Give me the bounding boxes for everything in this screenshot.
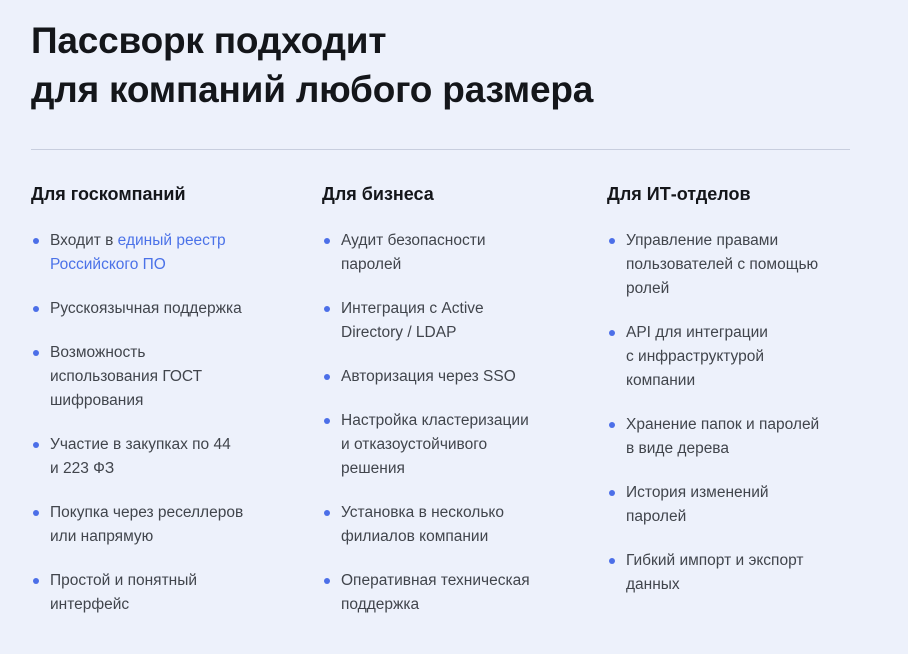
list-item: Аудит безопасности паролей <box>322 229 581 277</box>
column-title-business: Для бизнеса <box>322 182 581 206</box>
list-item-text: Установка в несколько филиалов компании <box>341 504 504 545</box>
feature-columns: Для госкомпаний Входит в единый реестр Р… <box>31 182 877 617</box>
bullet-icon <box>609 490 615 496</box>
list-item-text: Авторизация через SSO <box>341 368 516 385</box>
page-root: Пассворк подходит для компаний любого ра… <box>0 0 908 654</box>
bullet-icon <box>33 442 39 448</box>
list-item: Хранение папок и паролей в виде дерева <box>607 413 877 461</box>
list-item-text: Русскоязычная поддержка <box>50 300 242 317</box>
bullet-icon <box>609 238 615 244</box>
list-item-text: Участие в закупках по 44 и 223 ФЗ <box>50 436 231 477</box>
list-item-text: Входит в единый реестр Российского ПО <box>50 232 226 273</box>
list-item-text: Настройка кластеризации и отказоустойчив… <box>341 412 529 477</box>
feature-column-it: Для ИТ-отделов Управление правами пользо… <box>607 182 877 617</box>
list-item-text: Оперативная техническая поддержка <box>341 572 530 613</box>
bullet-icon <box>609 422 615 428</box>
list-item-text: Гибкий импорт и экспорт данных <box>626 552 803 593</box>
list-item: Управление правами пользователей с помощ… <box>607 229 877 301</box>
bullet-icon <box>324 374 330 380</box>
list-item: Авторизация через SSO <box>322 365 581 389</box>
list-item-text: Возможность использования ГОСТ шифровани… <box>50 344 202 409</box>
list-item: Простой и понятный интерфейс <box>31 569 296 617</box>
list-item: API для интеграции с инфраструктурой ком… <box>607 321 877 393</box>
bullet-icon <box>33 306 39 312</box>
list-item: Интеграция с Active Directory / LDAP <box>322 297 581 345</box>
list-item-text: Аудит безопасности паролей <box>341 232 486 273</box>
list-item: Русскоязычная поддержка <box>31 297 296 321</box>
bullet-icon <box>324 306 330 312</box>
bullet-icon <box>324 578 330 584</box>
list-item-text: Хранение папок и паролей в виде дерева <box>626 416 819 457</box>
feature-list-business: Аудит безопасности паролей Интеграция с … <box>322 229 581 617</box>
list-item-text: История изменений паролей <box>626 484 769 525</box>
list-item: Гибкий импорт и экспорт данных <box>607 549 877 597</box>
bullet-icon <box>324 418 330 424</box>
bullet-icon <box>33 578 39 584</box>
feature-list-gov: Входит в единый реестр Российского ПО Ру… <box>31 229 296 617</box>
feature-list-it: Управление правами пользователей с помощ… <box>607 229 877 597</box>
list-item-prefix: Входит в <box>50 232 118 249</box>
list-item-text: Простой и понятный интерфейс <box>50 572 197 613</box>
list-item: Покупка через реселлеров или напрямую <box>31 501 296 549</box>
bullet-icon <box>33 350 39 356</box>
list-item-text: Покупка через реселлеров или напрямую <box>50 504 243 545</box>
feature-column-business: Для бизнеса Аудит безопасности паролей И… <box>322 182 607 617</box>
list-item: Входит в единый реестр Российского ПО <box>31 229 296 277</box>
feature-column-gov: Для госкомпаний Входит в единый реестр Р… <box>31 182 322 617</box>
page-title: Пассворк подходит для компаний любого ра… <box>31 0 877 114</box>
bullet-icon <box>33 510 39 516</box>
bullet-icon <box>324 238 330 244</box>
section-divider <box>31 149 850 150</box>
list-item-text: Управление правами пользователей с помощ… <box>626 232 818 297</box>
list-item: Настройка кластеризации и отказоустойчив… <box>322 409 581 481</box>
bullet-icon <box>609 558 615 564</box>
column-title-it: Для ИТ-отделов <box>607 182 877 206</box>
bullet-icon <box>609 330 615 336</box>
bullet-icon <box>33 238 39 244</box>
list-item: Участие в закупках по 44 и 223 ФЗ <box>31 433 296 481</box>
list-item-text: Интеграция с Active Directory / LDAP <box>341 300 484 341</box>
list-item: Оперативная техническая поддержка <box>322 569 581 617</box>
list-item: Возможность использования ГОСТ шифровани… <box>31 341 296 413</box>
list-item-text: API для интеграции с инфраструктурой ком… <box>626 324 768 389</box>
column-title-gov: Для госкомпаний <box>31 182 296 206</box>
bullet-icon <box>324 510 330 516</box>
list-item: История изменений паролей <box>607 481 877 529</box>
list-item: Установка в несколько филиалов компании <box>322 501 581 549</box>
